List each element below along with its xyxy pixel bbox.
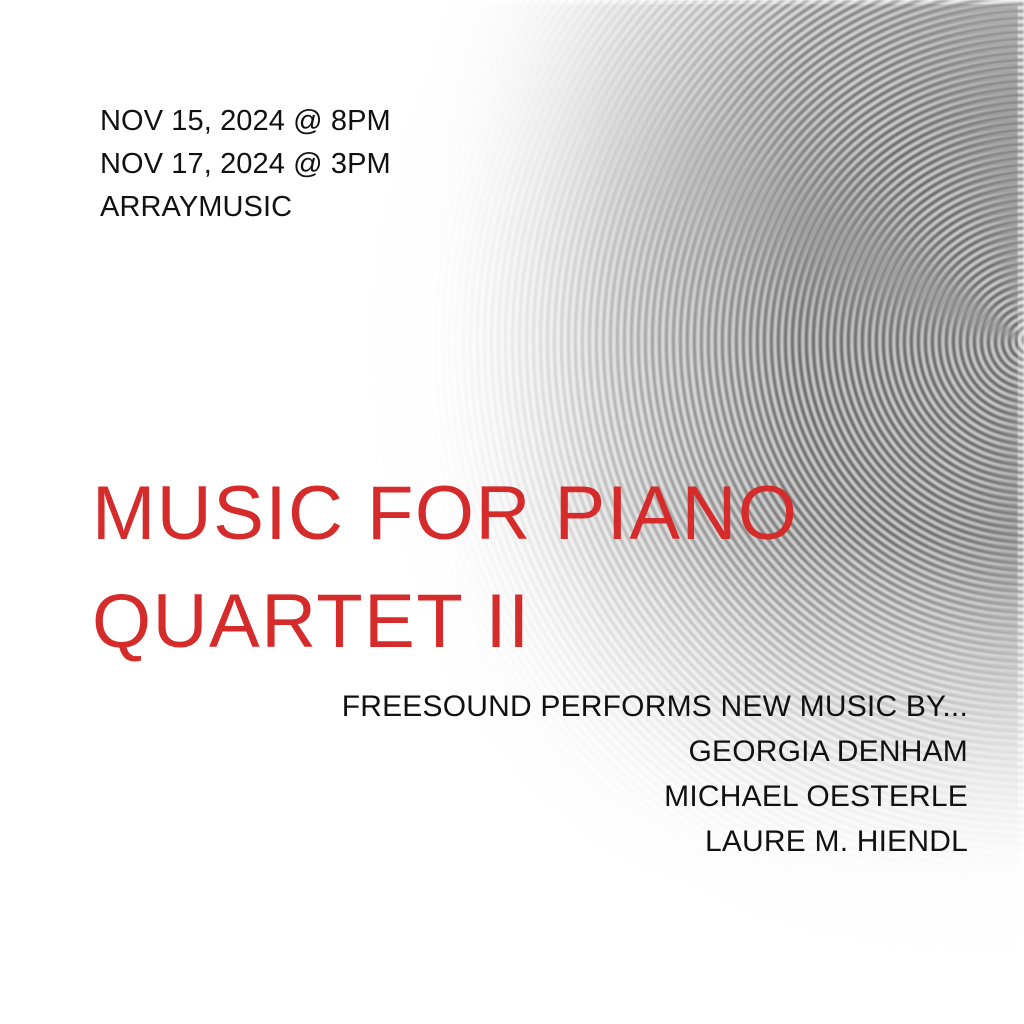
event-header: NOV 15, 2024 @ 8PM NOV 17, 2024 @ 3PM AR… — [100, 100, 391, 229]
title-line-1: MUSIC FOR PIANO — [92, 460, 799, 568]
credits-intro: FREESOUND PERFORMS NEW MUSIC BY... — [342, 684, 968, 729]
title-line-2: QUARTET II — [92, 568, 799, 676]
event-date-1: NOV 15, 2024 @ 8PM — [100, 100, 391, 143]
composer-name-2: MICHAEL OESTERLE — [342, 774, 968, 819]
poster-canvas: NOV 15, 2024 @ 8PM NOV 17, 2024 @ 3PM AR… — [0, 0, 1024, 1024]
credits-block: FREESOUND PERFORMS NEW MUSIC BY... GEORG… — [342, 684, 968, 864]
page-title: MUSIC FOR PIANO QUARTET II — [92, 460, 799, 676]
event-date-2: NOV 17, 2024 @ 3PM — [100, 143, 391, 186]
composer-name-1: GEORGIA DENHAM — [342, 729, 968, 774]
composer-name-3: LAURE M. HIENDL — [342, 819, 968, 864]
venue-name: ARRAYMUSIC — [100, 186, 391, 229]
